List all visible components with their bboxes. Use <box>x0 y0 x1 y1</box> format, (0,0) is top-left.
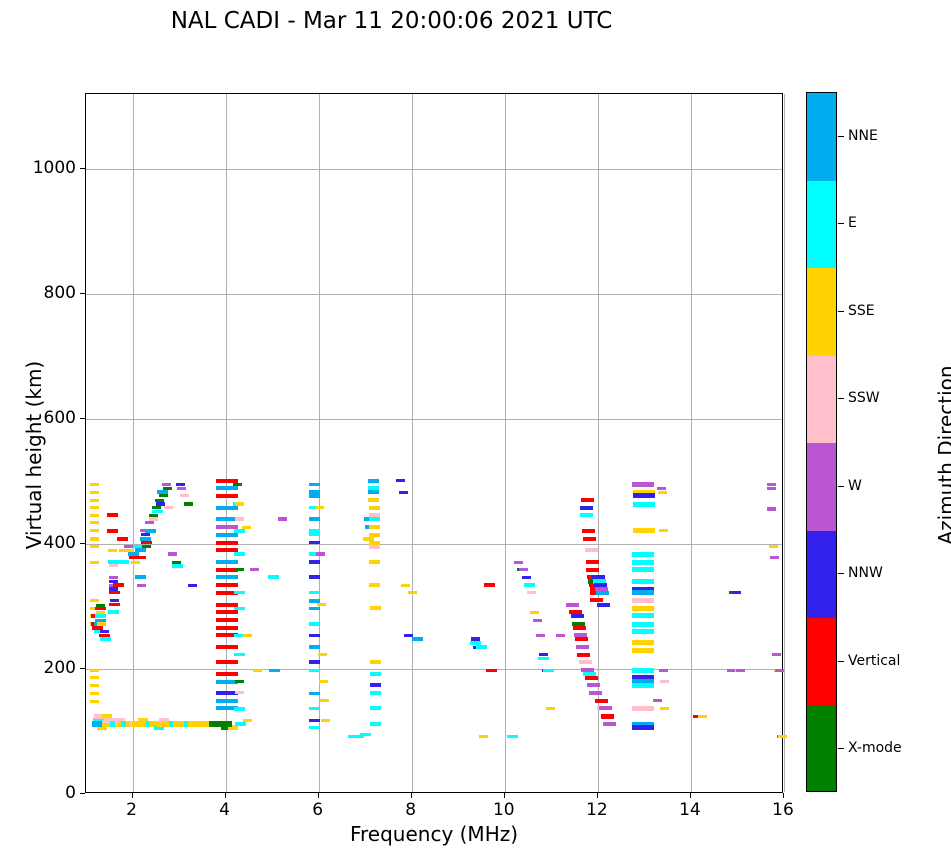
data-point <box>216 486 238 490</box>
data-point <box>309 692 320 695</box>
data-point <box>632 706 654 711</box>
y-tick <box>80 793 85 794</box>
colorbar-label-x-mode: X-mode <box>848 740 902 756</box>
data-point <box>109 564 118 567</box>
data-point <box>164 506 173 509</box>
data-point <box>216 506 238 510</box>
colorbar-title: Azimuth Direction <box>934 290 951 620</box>
colorbar-tick <box>838 398 844 399</box>
data-point <box>235 568 244 571</box>
data-point <box>530 611 539 614</box>
data-point <box>235 680 244 683</box>
data-point <box>653 699 662 702</box>
data-point <box>370 606 381 610</box>
data-point <box>216 645 238 649</box>
data-point <box>135 548 146 552</box>
data-point <box>309 669 320 672</box>
colorbar-label-e: E <box>848 215 857 231</box>
data-point <box>660 680 669 683</box>
data-point <box>234 552 245 556</box>
data-point <box>767 507 776 510</box>
data-point <box>589 691 602 695</box>
data-point <box>108 610 119 614</box>
data-point <box>576 645 589 649</box>
data-point <box>172 564 183 568</box>
colorbar-segment-sse <box>807 268 836 356</box>
data-point <box>369 506 380 510</box>
data-point <box>632 579 654 584</box>
data-point <box>595 699 608 703</box>
data-point <box>188 584 197 587</box>
data-point <box>315 506 324 509</box>
data-point <box>775 669 784 672</box>
data-point <box>575 637 588 641</box>
data-point <box>369 525 380 529</box>
data-point <box>92 721 102 726</box>
data-point <box>177 487 186 490</box>
data-point <box>579 660 592 664</box>
data-point <box>216 494 238 498</box>
data-point <box>222 721 232 726</box>
data-point <box>527 591 536 594</box>
figure-root: NAL CADI - Mar 11 20:00:06 2021 UTC 2468… <box>0 0 951 856</box>
data-point <box>659 669 668 672</box>
y-tick <box>80 293 85 294</box>
data-point <box>149 517 158 520</box>
data-point <box>141 533 150 536</box>
data-point <box>772 653 781 656</box>
x-tick <box>783 793 784 798</box>
data-point <box>581 498 594 502</box>
data-point <box>370 706 381 710</box>
data-point <box>368 498 379 502</box>
data-point <box>632 482 654 487</box>
x-tick-label: 4 <box>219 800 230 820</box>
data-point <box>412 637 423 641</box>
data-point <box>585 548 598 552</box>
data-point <box>90 692 99 695</box>
data-point <box>216 672 238 676</box>
y-tick <box>80 418 85 419</box>
data-point <box>234 591 245 595</box>
data-point <box>538 657 549 661</box>
data-point <box>767 487 776 490</box>
data-point <box>318 653 327 656</box>
data-point <box>137 584 146 587</box>
data-point <box>632 629 654 634</box>
data-point <box>767 483 776 486</box>
data-point <box>369 517 380 521</box>
x-tick-label: 12 <box>586 800 608 820</box>
data-point <box>216 541 238 545</box>
x-tick <box>597 793 598 798</box>
data-point <box>583 537 596 541</box>
colorbar-tick <box>838 136 844 137</box>
data-point <box>309 483 320 486</box>
data-point <box>216 575 238 579</box>
data-point <box>90 669 99 672</box>
y-tick-label: 200 <box>16 658 76 678</box>
colorbar-segment-w <box>807 443 836 531</box>
data-point <box>633 493 655 498</box>
data-point <box>580 506 593 510</box>
data-point <box>321 719 330 722</box>
data-point <box>216 660 238 664</box>
data-point <box>90 514 99 517</box>
data-point <box>320 699 329 702</box>
data-point <box>145 521 154 524</box>
colorbar-label-nne: NNE <box>848 128 878 144</box>
data-point <box>216 560 238 564</box>
data-point <box>269 669 280 673</box>
data-point <box>632 640 654 645</box>
data-point <box>309 726 320 729</box>
data-point <box>601 714 614 718</box>
data-point <box>368 479 379 483</box>
figure-title: NAL CADI - Mar 11 20:00:06 2021 UTC <box>0 8 783 34</box>
data-point <box>107 513 118 517</box>
data-point <box>587 683 600 687</box>
data-point <box>309 622 320 625</box>
data-point <box>234 707 245 711</box>
data-point <box>660 707 669 710</box>
colorbar-segment-ssw <box>807 356 836 444</box>
data-point <box>117 537 128 541</box>
data-point <box>90 599 99 602</box>
data-point <box>113 583 124 587</box>
colorbar-tick <box>838 748 844 749</box>
data-point <box>543 669 554 673</box>
data-point <box>408 591 417 594</box>
data-point <box>317 603 326 606</box>
data-point <box>235 722 246 726</box>
data-point <box>369 583 380 587</box>
data-point <box>632 683 654 688</box>
data-point <box>597 603 610 607</box>
y-tick-label: 800 <box>16 283 76 303</box>
data-point <box>163 487 172 490</box>
colorbar-tick <box>838 223 844 224</box>
data-point <box>253 669 262 672</box>
data-point <box>145 529 156 533</box>
colorbar-label-ssw: SSW <box>848 390 880 406</box>
data-point <box>159 494 168 497</box>
data-point <box>633 528 655 533</box>
data-point <box>124 545 133 548</box>
data-point <box>90 491 99 494</box>
data-point <box>582 529 595 533</box>
data-point <box>234 607 245 611</box>
data-point <box>268 575 279 579</box>
y-tick-label: 1000 <box>16 158 76 178</box>
data-point <box>632 622 654 627</box>
data-point <box>596 591 609 595</box>
data-point <box>234 529 245 533</box>
data-point <box>571 614 584 618</box>
data-point <box>514 561 523 564</box>
colorbar-segment-nnw <box>807 531 836 619</box>
data-point <box>657 487 666 490</box>
x-tick <box>411 793 412 798</box>
x-tick <box>132 793 133 798</box>
data-point <box>235 502 244 505</box>
data-point <box>90 521 99 524</box>
data-point <box>369 545 380 549</box>
colorbar-segment-x-mode <box>807 706 836 793</box>
data-point <box>234 653 245 657</box>
data-point <box>90 700 99 703</box>
data-point <box>368 490 379 494</box>
data-point <box>235 517 244 520</box>
data-point <box>507 735 518 739</box>
data-point <box>97 622 106 625</box>
data-point <box>479 735 488 738</box>
data-point <box>309 707 320 710</box>
colorbar <box>806 92 837 792</box>
data-point <box>108 549 117 552</box>
data-point <box>632 567 654 572</box>
data-point <box>769 545 778 548</box>
data-point <box>233 483 242 486</box>
data-point <box>162 483 171 486</box>
data-point <box>370 660 381 664</box>
data-layer <box>86 94 782 792</box>
x-tick <box>690 793 691 798</box>
data-point <box>370 683 381 687</box>
data-point <box>519 568 528 571</box>
data-point <box>580 513 593 517</box>
data-point <box>522 576 531 579</box>
y-tick <box>80 668 85 669</box>
data-point <box>370 691 381 695</box>
data-point <box>586 560 599 564</box>
colorbar-tick <box>838 311 844 312</box>
data-point <box>370 722 381 726</box>
data-point <box>633 502 655 507</box>
data-point <box>778 735 787 738</box>
data-point <box>577 653 590 657</box>
data-point <box>546 707 555 710</box>
data-point <box>573 626 586 630</box>
data-point <box>109 576 118 579</box>
data-point <box>243 719 252 722</box>
colorbar-tick <box>838 486 844 487</box>
data-point <box>599 706 612 710</box>
data-point <box>396 479 405 482</box>
x-axis-title: Frequency (MHz) <box>85 822 783 846</box>
data-point <box>100 637 111 641</box>
data-point <box>401 584 410 587</box>
data-point <box>309 634 320 637</box>
data-point <box>556 634 565 637</box>
data-point <box>524 583 535 587</box>
data-point <box>770 556 779 559</box>
data-point <box>216 699 238 703</box>
data-point <box>90 684 99 687</box>
data-point <box>603 722 616 726</box>
data-point <box>486 669 497 673</box>
data-point <box>632 725 654 730</box>
data-point <box>658 491 667 494</box>
data-point <box>118 560 129 564</box>
y-tick-label: 0 <box>16 783 76 803</box>
data-point <box>152 510 163 514</box>
data-point <box>90 561 99 564</box>
data-point <box>698 715 707 718</box>
data-point <box>180 494 189 497</box>
colorbar-label-w: W <box>848 478 862 494</box>
data-point <box>632 648 654 653</box>
y-tick <box>80 543 85 544</box>
data-point <box>309 591 320 594</box>
data-point <box>309 607 320 610</box>
data-point <box>216 618 238 622</box>
data-point <box>176 483 185 486</box>
data-point <box>216 533 238 537</box>
x-tick-label: 16 <box>772 800 794 820</box>
data-point <box>585 676 598 680</box>
data-point <box>309 517 320 520</box>
data-point <box>360 733 371 737</box>
data-point <box>90 483 99 486</box>
data-point <box>243 634 252 637</box>
data-point <box>90 506 99 509</box>
data-point <box>90 545 99 548</box>
data-point <box>216 610 238 614</box>
data-point <box>90 499 99 502</box>
data-point <box>363 537 374 541</box>
data-point <box>149 514 158 517</box>
data-point <box>184 502 193 505</box>
data-point <box>309 719 320 722</box>
data-point <box>399 491 408 494</box>
data-point <box>536 634 545 637</box>
data-point <box>369 533 380 537</box>
data-point <box>142 545 151 548</box>
gridline-vertical <box>784 94 785 792</box>
data-point <box>109 603 120 607</box>
x-tick <box>225 793 226 798</box>
data-point <box>736 669 745 672</box>
data-point <box>309 575 320 578</box>
data-point <box>659 529 668 532</box>
x-tick <box>504 793 505 798</box>
data-point <box>109 591 120 595</box>
data-point <box>278 517 287 520</box>
colorbar-segment-nne <box>807 93 836 181</box>
data-point <box>632 598 654 603</box>
data-point <box>135 575 146 579</box>
x-tick <box>318 793 319 798</box>
y-tick <box>80 168 85 169</box>
data-point <box>242 526 251 529</box>
data-point <box>107 529 118 533</box>
data-point <box>95 614 106 618</box>
data-point <box>370 672 381 676</box>
data-point <box>732 591 741 594</box>
data-point <box>90 537 99 540</box>
data-point <box>309 533 320 536</box>
data-point <box>90 529 99 532</box>
colorbar-label-nnw: NNW <box>848 565 883 581</box>
data-point <box>632 590 654 595</box>
data-point <box>216 583 238 587</box>
data-point <box>566 603 579 607</box>
data-point <box>632 668 654 673</box>
colorbar-label-sse: SSE <box>848 303 875 319</box>
data-point <box>309 541 320 544</box>
data-point <box>632 606 654 611</box>
data-point <box>235 691 244 694</box>
data-point <box>533 619 542 622</box>
colorbar-tick <box>838 573 844 574</box>
data-point <box>319 680 328 683</box>
data-point <box>131 561 140 564</box>
data-point <box>135 556 146 560</box>
x-tick-label: 10 <box>493 800 515 820</box>
data-point <box>316 552 325 555</box>
colorbar-label-vertical: Vertical <box>848 653 900 669</box>
data-point <box>90 676 99 679</box>
x-tick-label: 8 <box>405 800 416 820</box>
data-point <box>632 613 654 618</box>
data-point <box>168 552 177 555</box>
colorbar-segment-e <box>807 181 836 269</box>
data-point <box>632 552 654 557</box>
x-tick-label: 6 <box>312 800 323 820</box>
data-point <box>632 560 654 565</box>
data-point <box>470 641 481 645</box>
x-tick-label: 14 <box>679 800 701 820</box>
colorbar-tick <box>838 661 844 662</box>
colorbar-segment-vertical <box>807 618 836 706</box>
data-point <box>250 568 259 571</box>
data-point <box>155 499 164 502</box>
y-axis-title: Virtual height (km) <box>22 305 46 605</box>
data-point <box>476 645 487 649</box>
plot-area <box>85 93 783 793</box>
data-point <box>156 502 165 505</box>
data-point <box>309 660 320 663</box>
data-point <box>484 583 495 587</box>
x-tick-label: 2 <box>126 800 137 820</box>
data-point <box>309 494 320 497</box>
data-point <box>216 626 238 630</box>
data-point <box>586 568 599 572</box>
data-point <box>309 645 320 648</box>
data-point <box>309 560 320 563</box>
data-point <box>369 560 380 564</box>
